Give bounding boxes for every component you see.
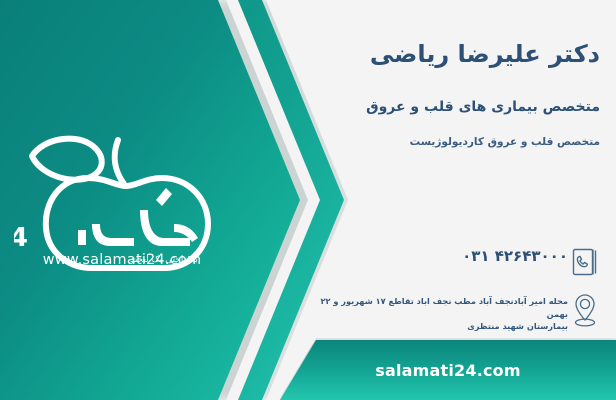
map-pin-icon xyxy=(568,291,602,329)
doctor-specialty-secondary: متخصص قلب و عروق کاردیولوژیست xyxy=(410,136,600,148)
phone-text-wrap: ۰۳۱ ۴۲۶۴۳۰۰۰ xyxy=(310,243,568,265)
address-line-2: بیمارستان شهید منتظری xyxy=(314,320,568,333)
phone-book-icon xyxy=(568,243,602,281)
doctor-specialty-primary: متخصص بیماری های قلب و عروق xyxy=(366,99,600,115)
logo-badge-number: 24 xyxy=(14,223,28,253)
contact-row-phone[interactable]: ۰۳۱ ۴۲۶۴۳۰۰۰ xyxy=(310,243,602,281)
footer-website[interactable]: salamati24.com xyxy=(280,340,616,400)
brand-logo: 24 به راحتی یک لبخند xyxy=(14,112,246,272)
logo-website-url[interactable]: www.salamati24.com xyxy=(16,252,228,268)
address-line-1: محله امیر آبادنجف آباد مطب نجف اباد تقاط… xyxy=(314,295,568,320)
contact-row-address[interactable]: محله امیر آبادنجف آباد مطب نجف اباد تقاط… xyxy=(310,291,602,333)
phone-number: ۰۳۱ ۴۲۶۴۳۰۰۰ xyxy=(314,247,568,265)
contact-block: ۰۳۱ ۴۲۶۴۳۰۰۰ محله امیر آبادنجف آباد مطب … xyxy=(310,243,602,343)
address-text-wrap: محله امیر آبادنجف آباد مطب نجف اباد تقاط… xyxy=(310,291,568,333)
doctor-name: دکتر علیرضا ریاضی xyxy=(370,40,600,68)
business-card: 24 به راحتی یک لبخند www.salamati24.com … xyxy=(0,0,616,400)
